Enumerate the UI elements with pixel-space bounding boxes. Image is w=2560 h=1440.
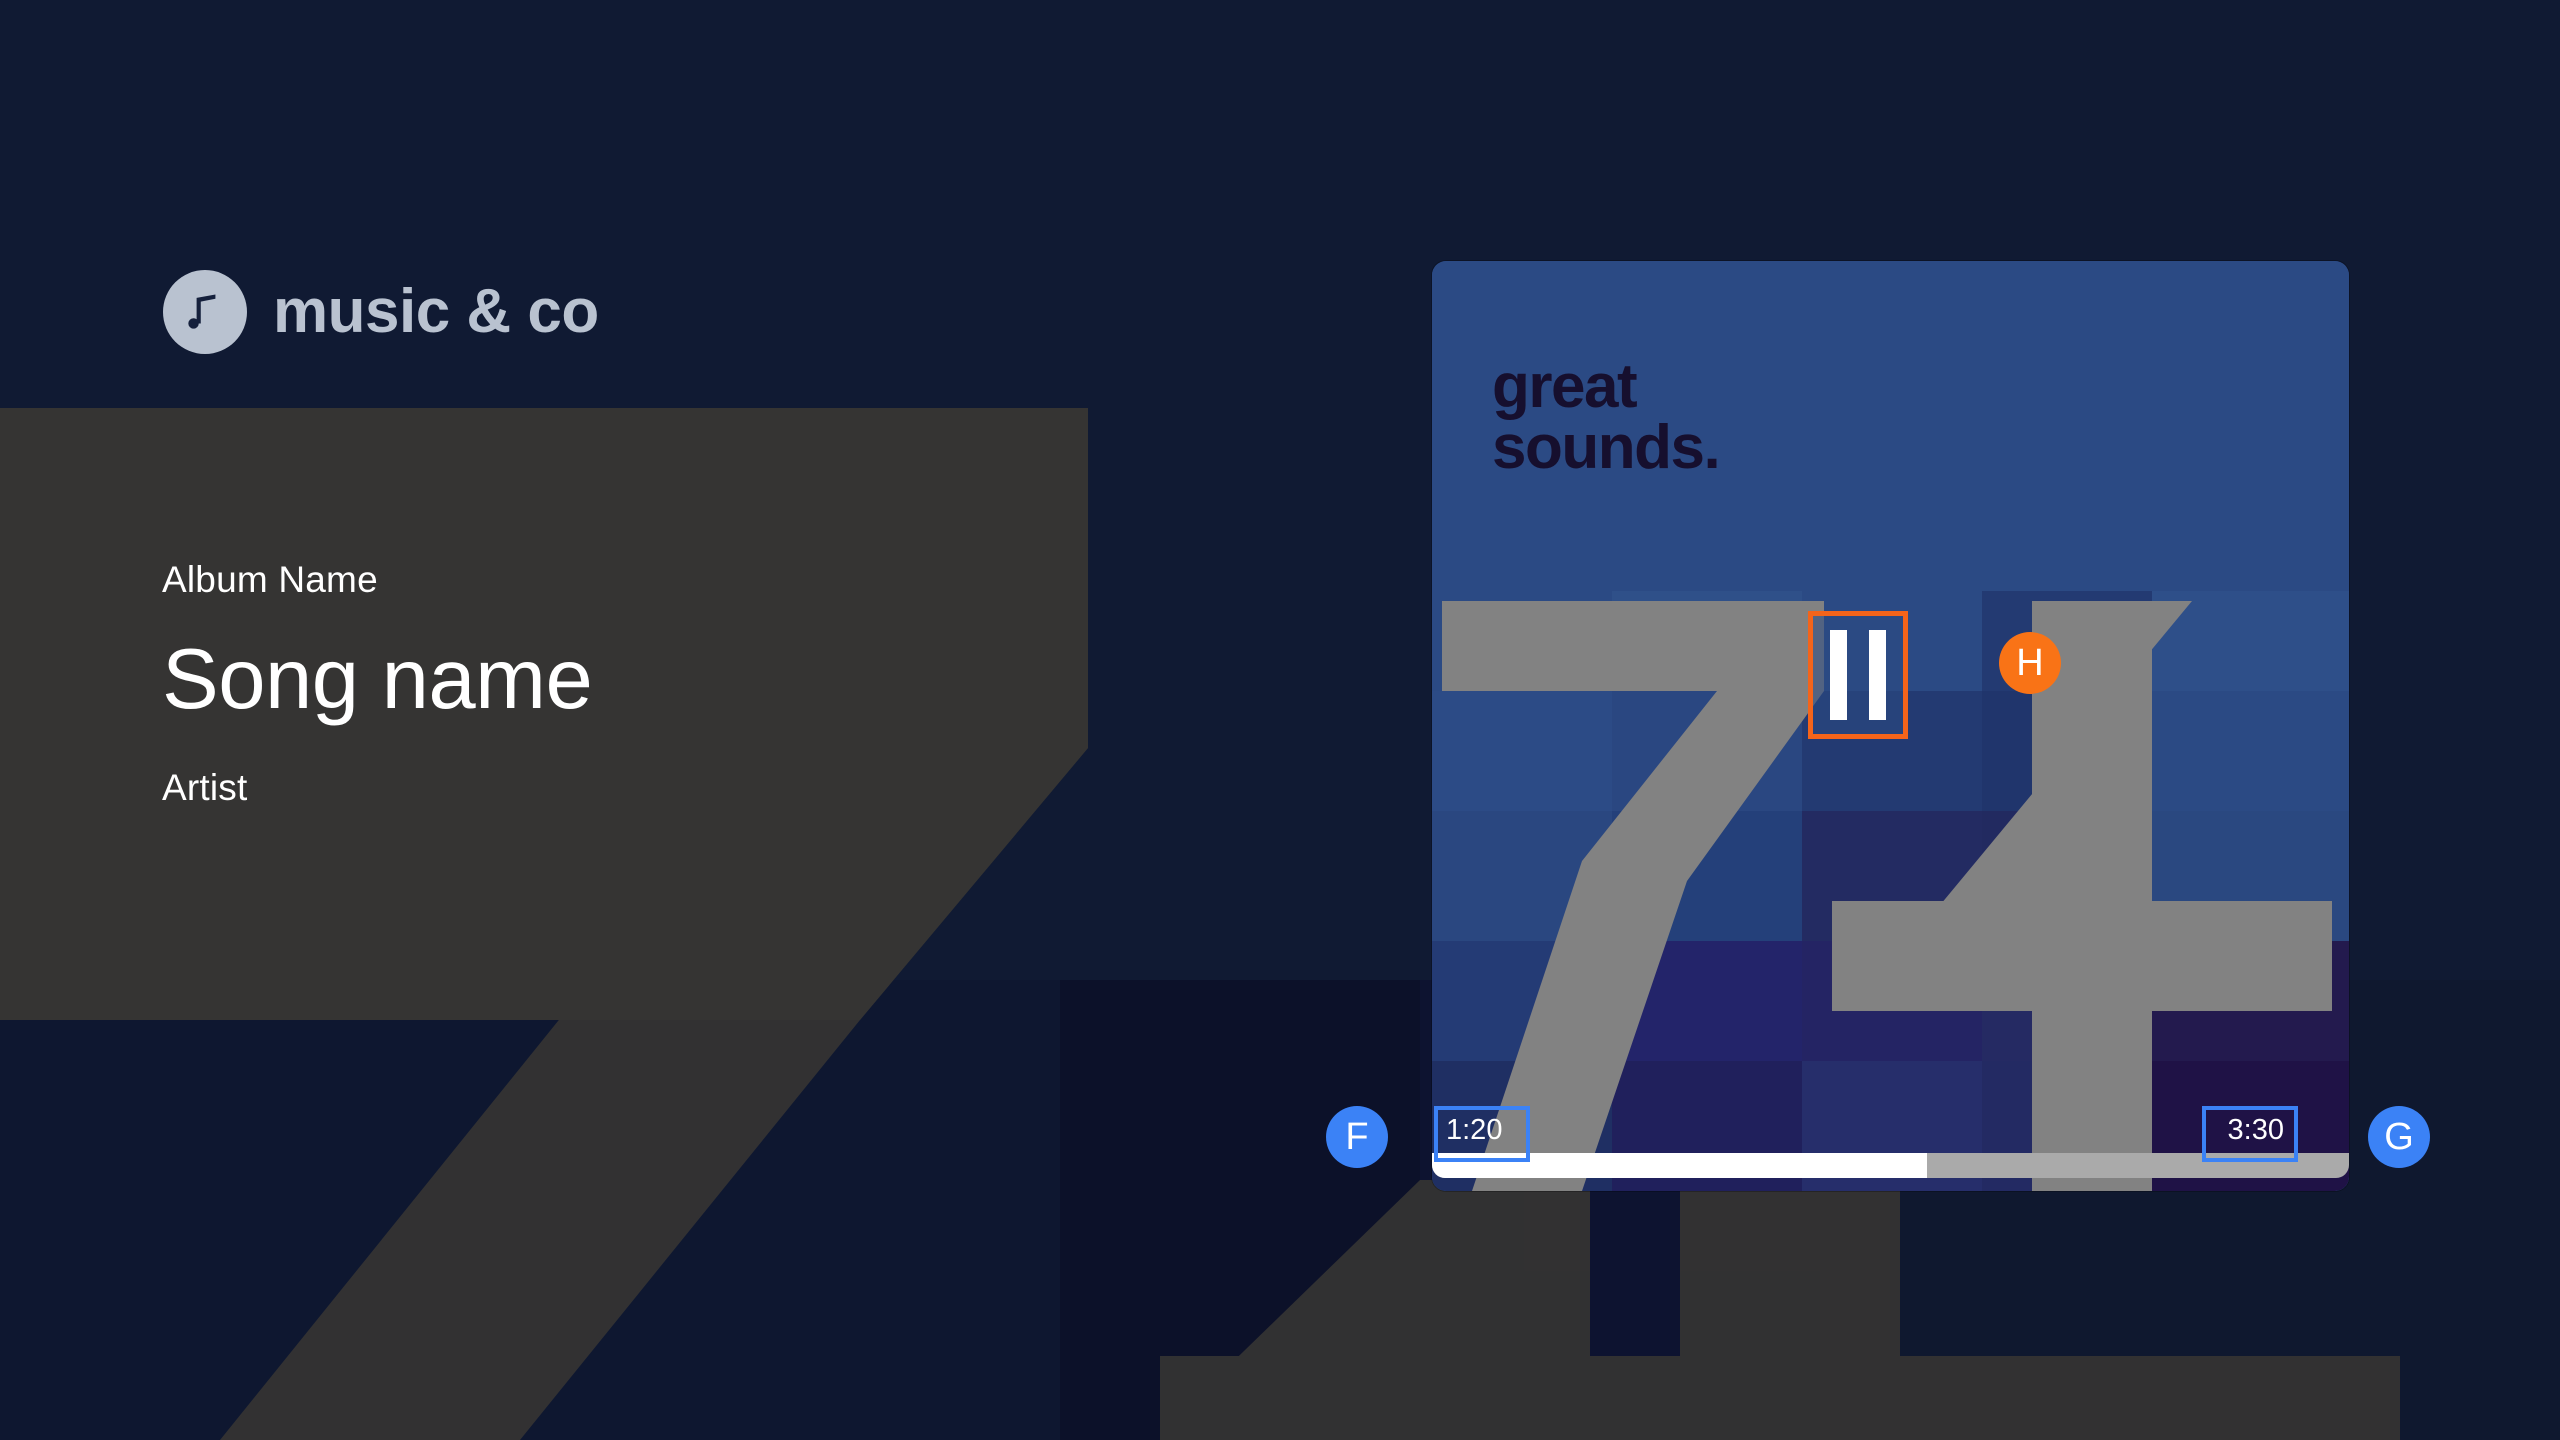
pause-icon-bar-right	[1869, 630, 1886, 720]
pause-button[interactable]	[1810, 613, 1906, 737]
music-note-circle-icon	[163, 270, 247, 354]
annotation-marker-h: H	[1999, 632, 2061, 694]
artist-name: Artist	[162, 768, 982, 809]
brand-name: music & co	[273, 281, 599, 343]
pause-icon-bar-left	[1830, 630, 1847, 720]
progress-bar-track[interactable]	[1432, 1153, 2349, 1178]
now-playing-metadata: Album Name Song name Artist	[162, 560, 982, 809]
progress-bar-fill	[1432, 1153, 1927, 1178]
album-name: Album Name	[162, 560, 982, 601]
brand-logo[interactable]: music & co	[163, 270, 599, 354]
player-screen: music & co Album Name Song name Artist	[0, 0, 2560, 1440]
total-time-label: 3:30	[2219, 1108, 2293, 1154]
annotation-marker-g: G	[2368, 1106, 2430, 1168]
annotation-marker-f: F	[1326, 1106, 1388, 1168]
elapsed-time-label: 1:20	[1437, 1108, 1511, 1154]
album-tagline: great sounds.	[1492, 357, 1719, 479]
song-title: Song name	[162, 635, 982, 724]
